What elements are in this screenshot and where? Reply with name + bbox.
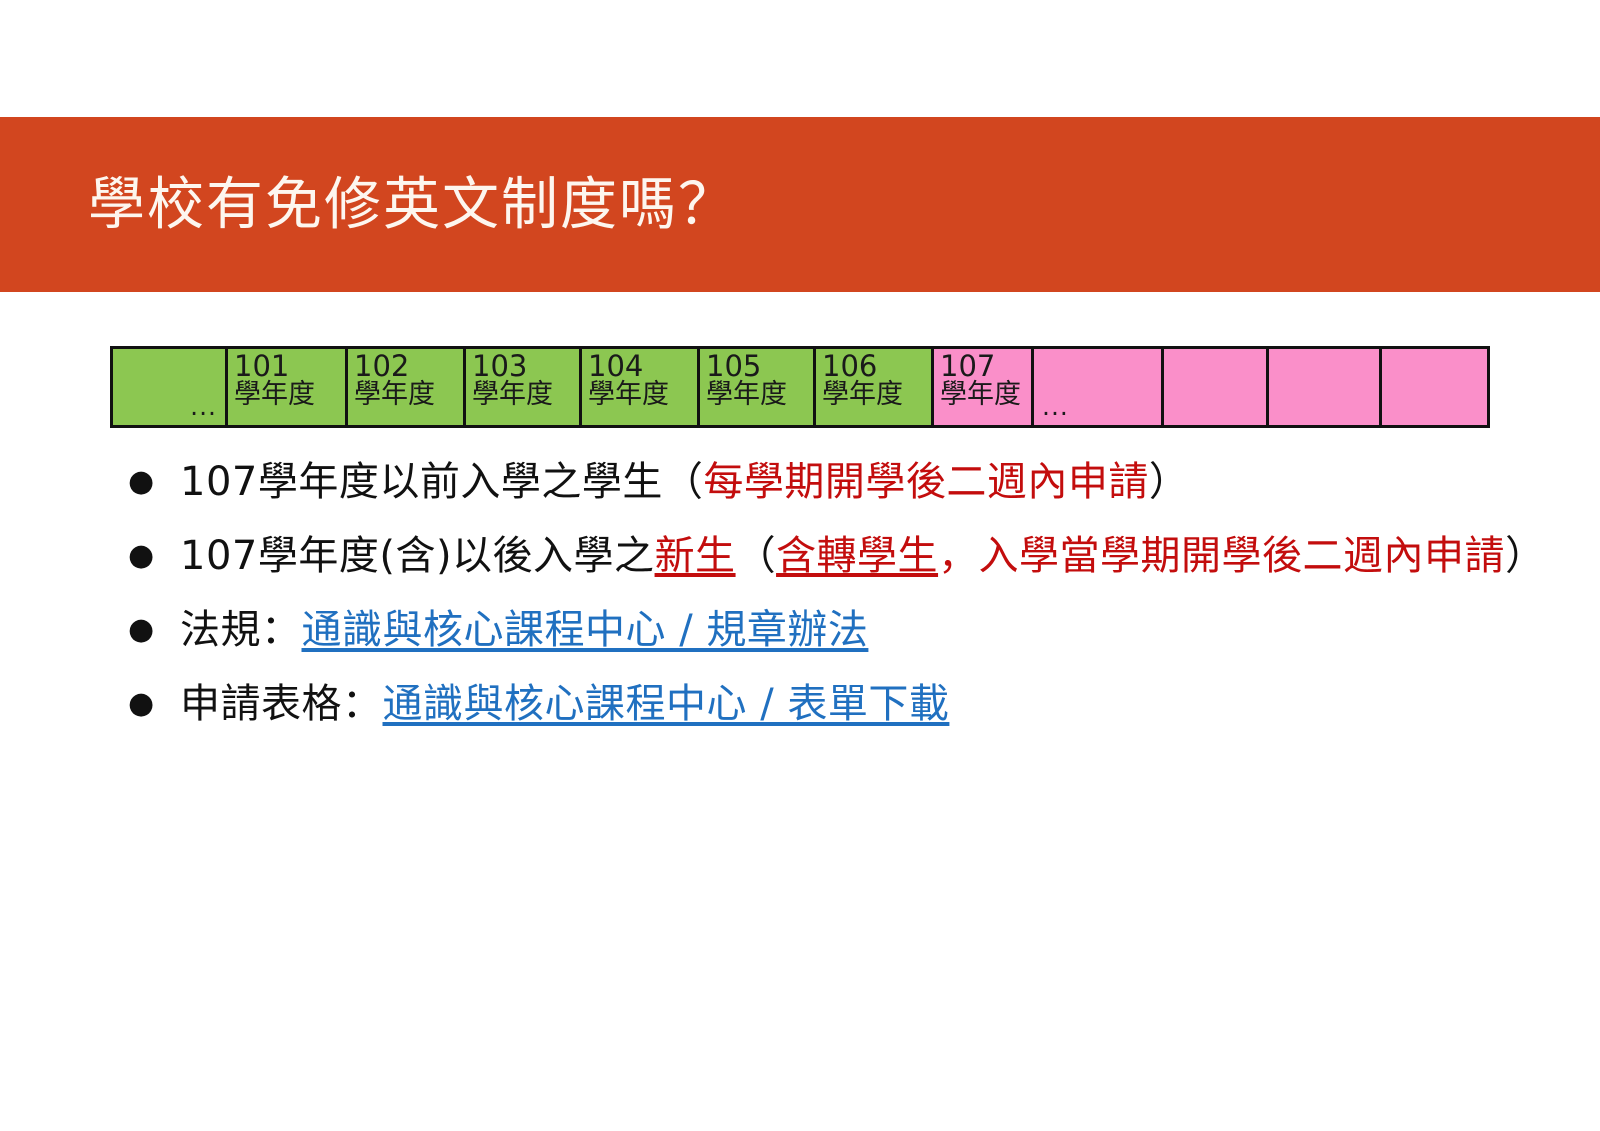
year-cell-102: 102學年度 [348,349,466,425]
year-cell-103: 103學年度 [466,349,582,425]
year-cell-101: 101學年度 [228,349,348,425]
title-banner: 學校有免修英文制度嗎？ [0,117,1600,292]
bullet-list: ●107學年度以前入學之學生（每學期開學後二週內申請）●107學年度(含)以後入… [128,448,1548,744]
ellipsis-mark: ... [190,394,217,421]
bullet-item-regulations: ●法規：通識與核心課程中心 / 規章辦法 [128,596,1548,664]
year-number: 106 [822,351,877,381]
text-segment: 法規： [180,607,302,653]
text-segment: 含轉學生 [776,533,938,579]
year-number: 101 [234,351,289,381]
year-cell-empty [1382,349,1487,425]
academic-year-timeline: ...101學年度102學年度103學年度104學年度105學年度106學年度1… [110,346,1490,428]
bullet-dot-icon: ● [128,596,154,664]
text-segment: ） [1505,533,1546,579]
year-number: 105 [706,351,761,381]
year-cell-empty [1164,349,1269,425]
bullet-item-before-107: ●107學年度以前入學之學生（每學期開學後二週內申請） [128,448,1548,516]
bullet-item-application-form: ●申請表格：通識與核心課程中心 / 表單下載 [128,670,1548,738]
bullet-dot-icon: ● [128,522,154,590]
year-suffix-label: 學年度 [234,381,315,409]
year-number: 107 [940,351,995,381]
year-cell-ellipsis: ... [113,349,228,425]
text-segment: 新生 [655,533,736,579]
year-cell-106: 106學年度 [816,349,934,425]
year-suffix-label: 學年度 [940,381,1021,409]
year-cell-105: 105學年度 [700,349,816,425]
text-segment: 107學年度(含)以後入學之 [180,533,655,579]
year-number: 103 [472,351,527,381]
year-number: 104 [588,351,643,381]
year-cell-104: 104學年度 [582,349,700,425]
bullet-text: 申請表格：通識與核心課程中心 / 表單下載 [154,670,1548,738]
year-cell-ellipsis: ... [1034,349,1164,425]
bullet-text: 107學年度(含)以後入學之新生（含轉學生，入學當學期開學後二週內申請） [154,522,1548,590]
bullet-dot-icon: ● [128,448,154,516]
text-segment: （ [736,533,777,579]
bullet-dot-icon: ● [128,670,154,738]
text-segment: ，入學當學期開學後二週內申請 [938,533,1505,579]
bullet-text: 107學年度以前入學之學生（每學期開學後二週內申請） [154,448,1548,516]
ellipsis-mark: ... [1042,394,1069,421]
year-number: 102 [354,351,409,381]
text-segment: 每學期開學後二週內申請 [703,459,1149,505]
text-segment: 107學年度以前入學之學生（ [180,459,703,505]
hyperlink-regulations[interactable]: 通識與核心課程中心 / 規章辦法 [302,607,869,653]
year-cell-107: 107學年度 [934,349,1034,425]
page-title: 學校有免修英文制度嗎？ [88,173,737,236]
year-suffix-label: 學年度 [354,381,435,409]
bullet-item-from-107: ●107學年度(含)以後入學之新生（含轉學生，入學當學期開學後二週內申請） [128,522,1548,590]
year-suffix-label: 學年度 [822,381,903,409]
text-segment: 申請表格： [180,681,383,727]
bullet-text: 法規：通識與核心課程中心 / 規章辦法 [154,596,1548,664]
year-suffix-label: 學年度 [706,381,787,409]
text-segment: ） [1149,459,1190,505]
year-suffix-label: 學年度 [472,381,553,409]
hyperlink-application-form[interactable]: 通識與核心課程中心 / 表單下載 [383,681,950,727]
year-cell-empty [1269,349,1382,425]
year-suffix-label: 學年度 [588,381,669,409]
